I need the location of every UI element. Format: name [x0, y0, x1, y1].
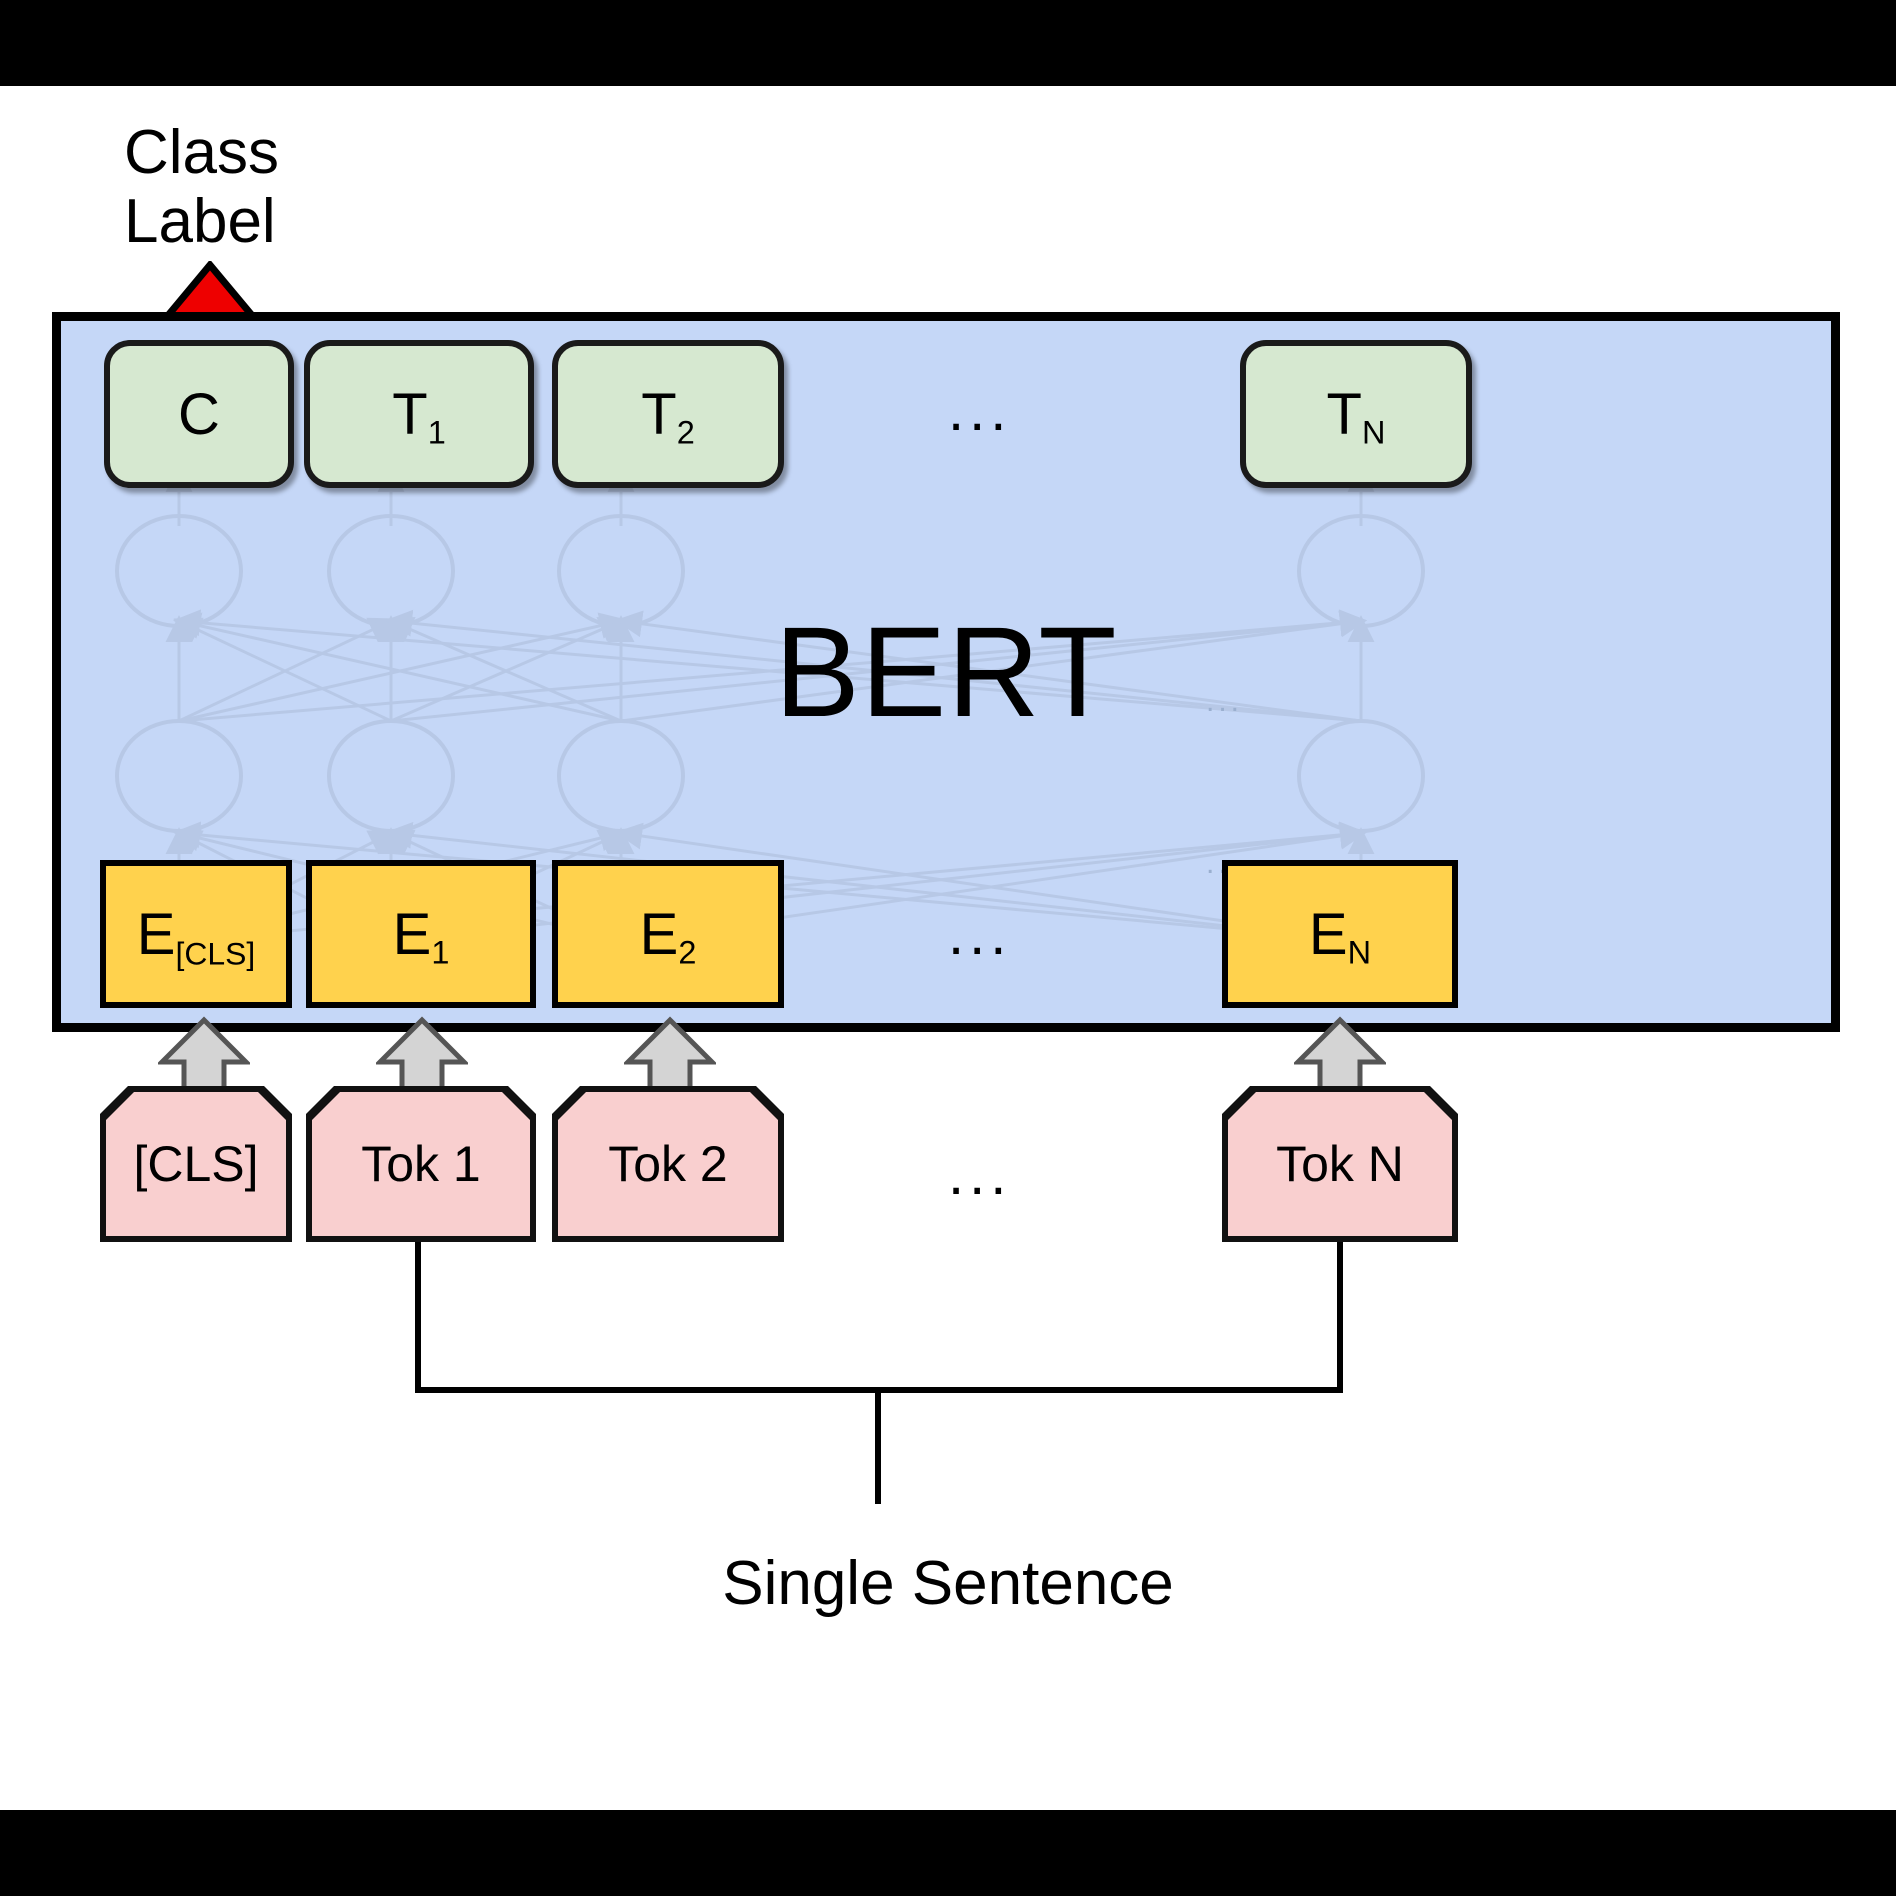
- input-token-tok1[interactable]: Tok 1: [306, 1086, 536, 1242]
- sentence-caption: Single Sentence: [0, 1548, 1896, 1619]
- input-token-tok2-body: Tok 2: [558, 1092, 778, 1236]
- input-token-tokn[interactable]: Tok N: [1222, 1086, 1458, 1242]
- embedding-e-cls[interactable]: E[CLS]: [100, 860, 292, 1008]
- embedding-en-label: EN: [1309, 901, 1371, 968]
- embedding-e2-label: E2: [640, 901, 697, 968]
- embedding-e1-label: E1: [393, 901, 450, 968]
- letterbox-bar-top: [0, 0, 1896, 86]
- input-token-cls-body: [CLS]: [106, 1092, 286, 1236]
- output-token-t2[interactable]: T2: [552, 340, 784, 488]
- input-token-cls-label: [CLS]: [133, 1135, 258, 1193]
- diagram-area: Class Label: [0, 86, 1896, 1810]
- output-token-c[interactable]: C: [104, 340, 294, 488]
- output-token-tn-label: TN: [1327, 381, 1386, 448]
- output-token-tn[interactable]: TN: [1240, 340, 1472, 488]
- embedding-e-cls-label: E[CLS]: [137, 901, 255, 968]
- input-token-cls[interactable]: [CLS]: [100, 1086, 292, 1242]
- letterbox-bar-bottom: [0, 1810, 1896, 1896]
- input-row-ellipsis: ...: [948, 1146, 1011, 1204]
- input-token-tok2[interactable]: Tok 2: [552, 1086, 784, 1242]
- embedding-e2[interactable]: E2: [552, 860, 784, 1008]
- output-token-t2-label: T2: [641, 381, 695, 448]
- input-token-tokn-body: Tok N: [1228, 1092, 1452, 1236]
- sentence-bracket: [0, 1236, 1896, 1566]
- input-token-tok1-label: Tok 1: [361, 1135, 481, 1193]
- network-ellipsis-upper: ...: [1206, 687, 1243, 717]
- embedding-en[interactable]: EN: [1222, 860, 1458, 1008]
- output-token-c-label: C: [178, 381, 220, 448]
- output-row-ellipsis: ...: [948, 382, 1011, 440]
- output-token-t1-label: T1: [392, 381, 446, 448]
- figure-canvas: Class Label: [0, 0, 1896, 1896]
- embedding-row-ellipsis: ...: [948, 906, 1011, 964]
- input-token-tok1-body: Tok 1: [312, 1092, 530, 1236]
- embedding-e1[interactable]: E1: [306, 860, 536, 1008]
- input-token-tok2-label: Tok 2: [608, 1135, 728, 1193]
- class-label-text: Class Label: [124, 118, 424, 257]
- input-token-tokn-label: Tok N: [1276, 1135, 1404, 1193]
- output-token-t1[interactable]: T1: [304, 340, 534, 488]
